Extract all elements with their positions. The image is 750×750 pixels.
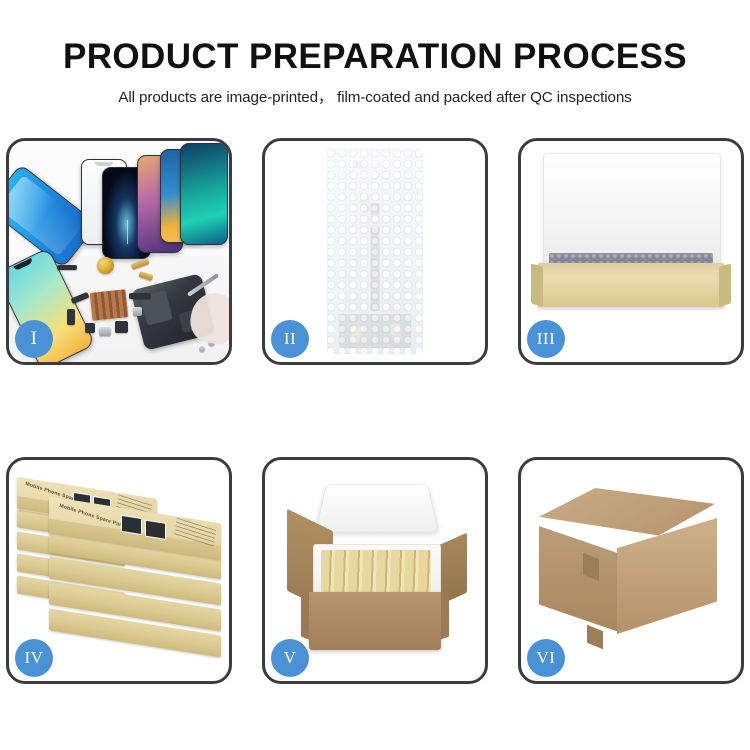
bubble-wrap-bag xyxy=(327,149,423,354)
process-step-1[interactable]: I xyxy=(6,138,232,365)
speaker-module-part xyxy=(97,257,114,274)
process-step-2[interactable]: II xyxy=(262,138,488,365)
bubble-texture xyxy=(327,149,423,354)
carton-body xyxy=(309,592,441,650)
page-title: PRODUCT PREPARATION PROCESS xyxy=(0,0,750,78)
step-badge-5: V xyxy=(271,639,309,677)
small-part xyxy=(67,309,75,325)
foam-lid-open xyxy=(315,484,439,532)
step-badge-1: I xyxy=(15,320,53,358)
notch-icon xyxy=(95,162,113,166)
step-badge-6: VI xyxy=(527,639,565,677)
process-step-5[interactable]: V xyxy=(262,457,488,684)
small-part xyxy=(115,321,128,333)
small-part xyxy=(85,323,95,333)
crack-line xyxy=(127,220,128,244)
small-part xyxy=(57,265,77,270)
kraft-box-base xyxy=(537,263,725,307)
page-header: PRODUCT PREPARATION PROCESS All products… xyxy=(0,0,750,108)
box-flap-right xyxy=(719,264,731,307)
product-photo xyxy=(121,515,142,535)
process-step-grid: I II III xyxy=(6,138,744,684)
process-step-3[interactable]: III xyxy=(518,138,744,365)
small-part xyxy=(129,293,151,299)
carton-right-face xyxy=(617,518,717,634)
step-badge-2: II xyxy=(271,320,309,358)
carton-tape-lower xyxy=(587,625,603,649)
retail-box-stack: Mobile Phone Spare Parts Mobile Phone Sp… xyxy=(15,482,227,668)
carton-left-face xyxy=(539,526,619,632)
phone-screen-teal xyxy=(180,143,228,245)
box-flap-left xyxy=(531,264,543,307)
chip-array-part xyxy=(90,289,129,321)
step-badge-4: IV xyxy=(15,639,53,677)
screw-part xyxy=(199,346,205,352)
process-step-4[interactable]: Mobile Phone Spare Parts Mobile Phone Sp… xyxy=(6,457,232,684)
page-subtitle: All products are image-printed， film-coa… xyxy=(0,78,750,108)
packed-yellow-boxes xyxy=(321,550,431,592)
step-badge-3: III xyxy=(527,320,565,358)
product-photo xyxy=(145,520,166,540)
small-part xyxy=(99,327,111,336)
process-step-6[interactable]: VI xyxy=(518,457,744,684)
small-part xyxy=(133,307,142,316)
